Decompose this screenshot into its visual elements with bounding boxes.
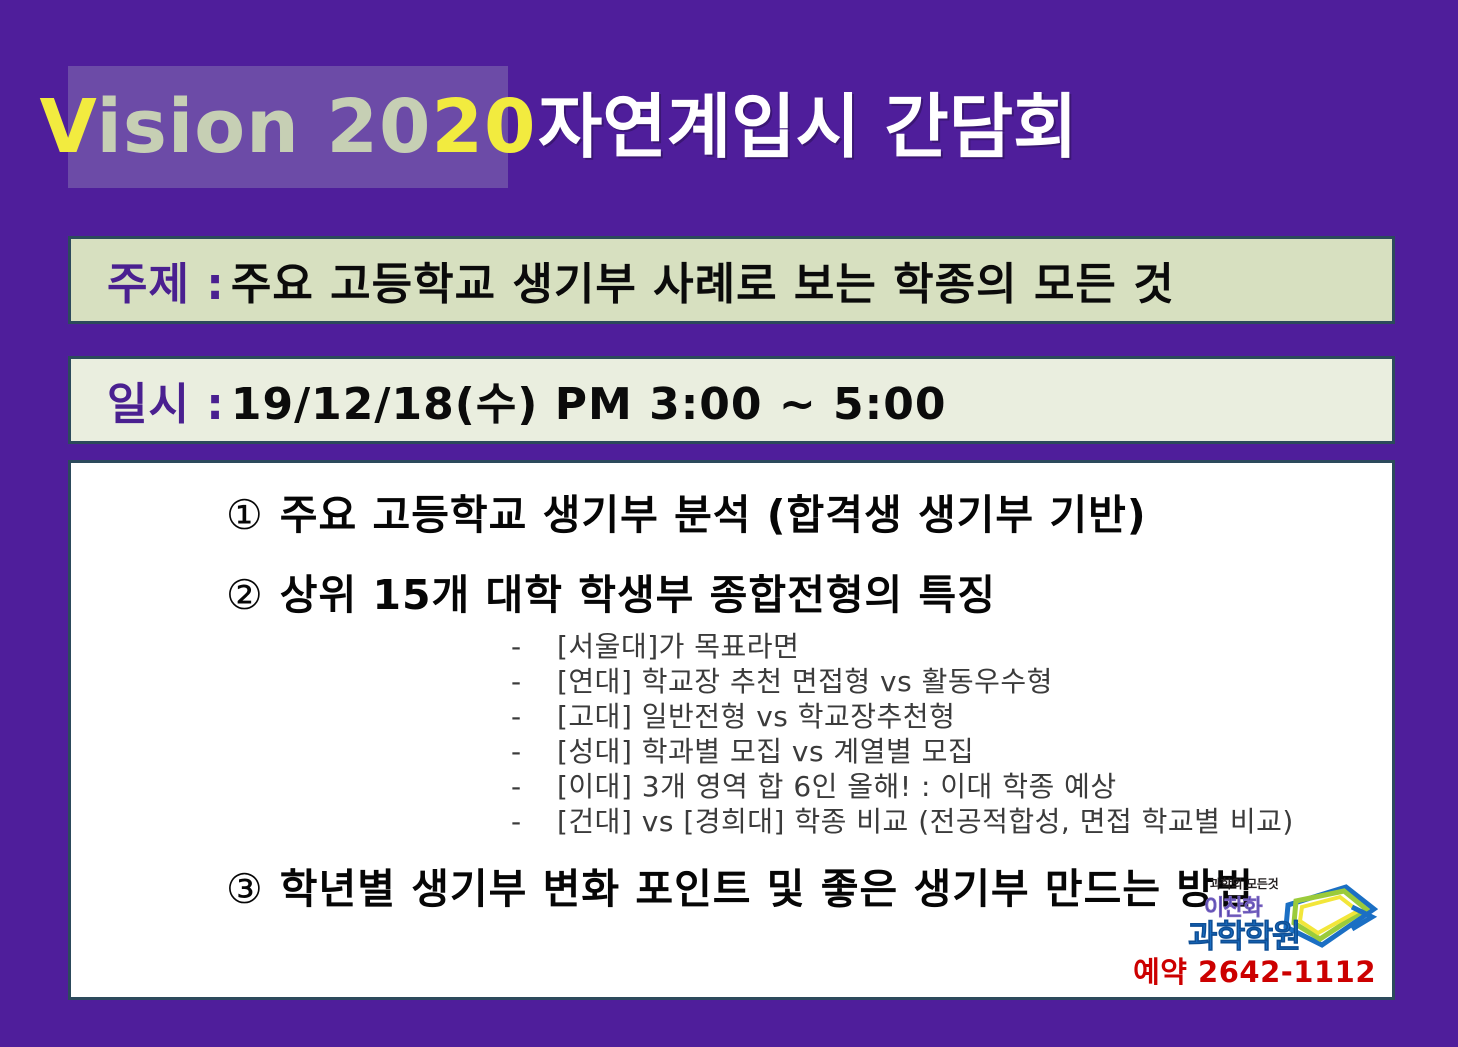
datetime-value: 19/12/18(수) PM 3:00 ~ 5:00 (231, 368, 947, 432)
list-item: - [건대] vs [경희대] 학종 비교 (전공적합성, 면접 학교별 비교) (511, 800, 1294, 835)
agenda-number-1: ① (226, 491, 264, 539)
datetime-bar: 일시 : 19/12/18(수) PM 3:00 ~ 5:00 (68, 356, 1395, 444)
datetime-label: 일시 : (107, 368, 225, 432)
bullet-text: [성대] 학과별 모집 vs 계열별 모집 (557, 730, 974, 770)
vision-brand-box: Vision 2020 (68, 66, 508, 188)
bullet-dash-icon: - (511, 700, 557, 733)
subject-value: 주요 고등학교 생기부 사례로 보는 학종의 모든 것 (231, 248, 1175, 312)
academy-logo-block: 과학의 모든것 이찬화 과학학원 예약 2642-1112 (1142, 873, 1382, 995)
academy-logo: 과학의 모든것 이찬화 과학학원 (1188, 873, 1378, 951)
subject-label: 주제 : (107, 248, 225, 312)
bullet-text: [건대] vs [경희대] 학종 비교 (전공적합성, 면접 학교별 비교) (557, 800, 1294, 840)
bullet-dash-icon: - (511, 630, 557, 663)
agenda-item-3: ③ 학년별 생기부 변화 포인트 및 좋은 생기부 만드는 방법 (226, 855, 1254, 915)
list-item: - [이대] 3개 영역 합 6인 올해! : 이대 학종 예상 (511, 765, 1294, 800)
vision-year-first: 20 (300, 84, 432, 170)
seminar-poster: Vision 2020 자연계입시 간담회 주제 : 주요 고등학교 생기부 사… (0, 0, 1458, 1047)
agenda-number-3: ③ (226, 865, 264, 913)
vision-letter-v: V (40, 84, 97, 170)
bullet-dash-icon: - (511, 665, 557, 698)
bullet-text: [연대] 학교장 추천 면접형 vs 활동우수형 (557, 660, 1053, 700)
agenda-number-2: ② (226, 571, 264, 619)
bullet-dash-icon: - (511, 805, 557, 838)
agenda-item-1: ① 주요 고등학교 생기부 분석 (합격생 생기부 기반) (226, 481, 1147, 541)
reservation-phone: 예약 2642-1112 (1133, 949, 1376, 991)
list-item: - [성대] 학과별 모집 vs 계열별 모집 (511, 730, 1294, 765)
agenda-text-1: 주요 고등학교 생기부 분석 (합격생 생기부 기반) (280, 481, 1147, 541)
subject-bar: 주제 : 주요 고등학교 생기부 사례로 보는 학종의 모든 것 (68, 236, 1395, 324)
bullet-text: [서울대]가 목표라면 (557, 625, 799, 665)
poster-header: Vision 2020 자연계입시 간담회 (0, 62, 1458, 192)
vision-year-second: 20 (432, 84, 537, 170)
agenda-sub-bullet-list: - [서울대]가 목표라면 - [연대] 학교장 추천 면접형 vs 활동우수형… (511, 625, 1294, 835)
bullet-text: [고대] 일반전형 vs 학교장추천형 (557, 695, 955, 735)
list-item: - [연대] 학교장 추천 면접형 vs 활동우수형 (511, 660, 1294, 695)
agenda-item-2: ② 상위 15개 대학 학생부 종합전형의 특징 (226, 561, 996, 621)
agenda-text-2: 상위 15개 대학 학생부 종합전형의 특징 (280, 561, 996, 621)
agenda-text-3: 학년별 생기부 변화 포인트 및 좋은 생기부 만드는 방법 (280, 855, 1254, 915)
vision-brand-text: Vision 2020 (40, 90, 537, 164)
bullet-dash-icon: - (511, 770, 557, 803)
poster-title: 자연계입시 간담회 (538, 92, 1078, 162)
agenda-panel: ① 주요 고등학교 생기부 분석 (합격생 생기부 기반) ② 상위 15개 대… (68, 460, 1395, 1000)
list-item: - [고대] 일반전형 vs 학교장추천형 (511, 695, 1294, 730)
bullet-text: [이대] 3개 영역 합 6인 올해! : 이대 학종 예상 (557, 765, 1117, 805)
bullet-dash-icon: - (511, 735, 557, 768)
list-item: - [서울대]가 목표라면 (511, 625, 1294, 660)
vision-letters-ision: ision (96, 84, 299, 170)
